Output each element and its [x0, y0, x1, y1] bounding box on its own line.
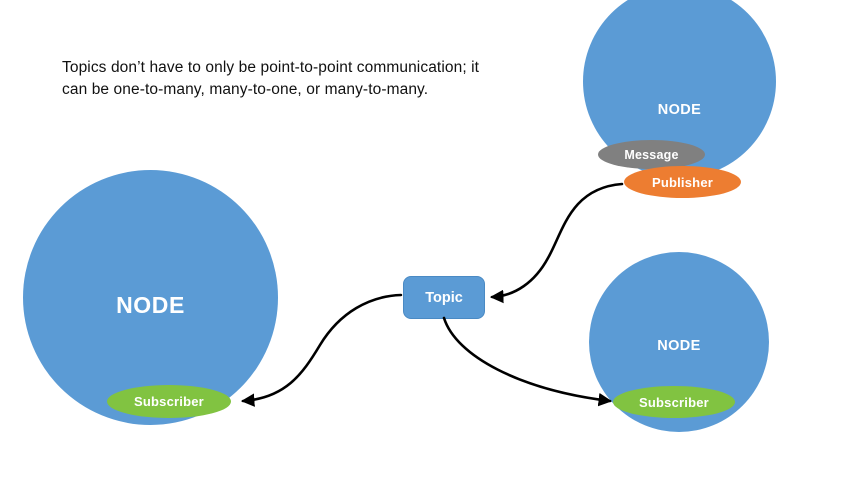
node-bottom-right-label: NODE [589, 338, 769, 354]
diagram-canvas: Topics don’t have to only be point-to-po… [0, 0, 854, 480]
node-left-label: NODE [23, 292, 278, 319]
topic-box: Topic [403, 276, 485, 319]
message-pill: Message [598, 140, 705, 169]
caption-text: Topics don’t have to only be point-to-po… [62, 57, 492, 101]
subscriber-pill-bottom-right: Subscriber [613, 386, 735, 418]
node-top-right-label: NODE [583, 102, 776, 118]
subscriber-pill-left: Subscriber [107, 385, 231, 418]
connector-topic-to-bottom-right-subscriber [444, 318, 610, 401]
connector-publisher-to-topic [492, 184, 622, 297]
publisher-pill: Publisher [624, 166, 741, 198]
